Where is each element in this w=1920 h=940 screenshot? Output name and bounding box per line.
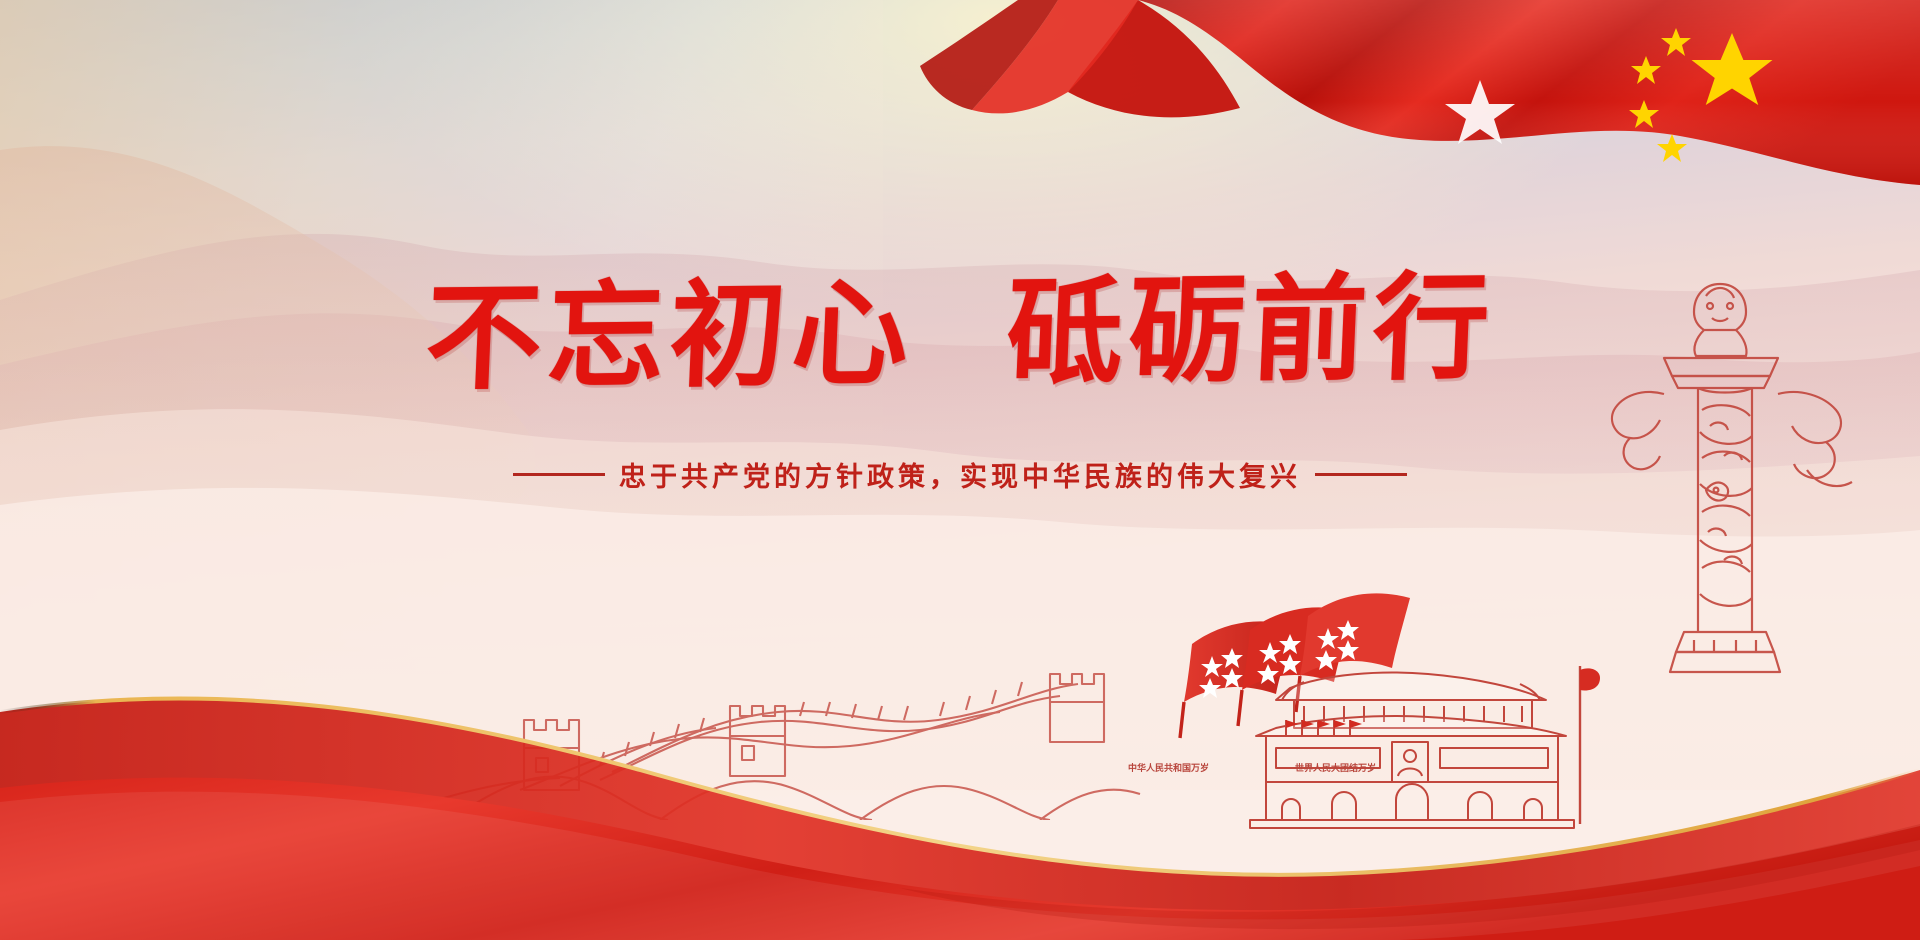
huabiao-column-icon [1602,260,1872,680]
red-ribbon-icon [0,620,1920,940]
poster-canvas: 中华人民共和国万岁 世界人民大团结万岁 [0,0,1920,940]
chinese-flag-icon [820,0,1920,250]
